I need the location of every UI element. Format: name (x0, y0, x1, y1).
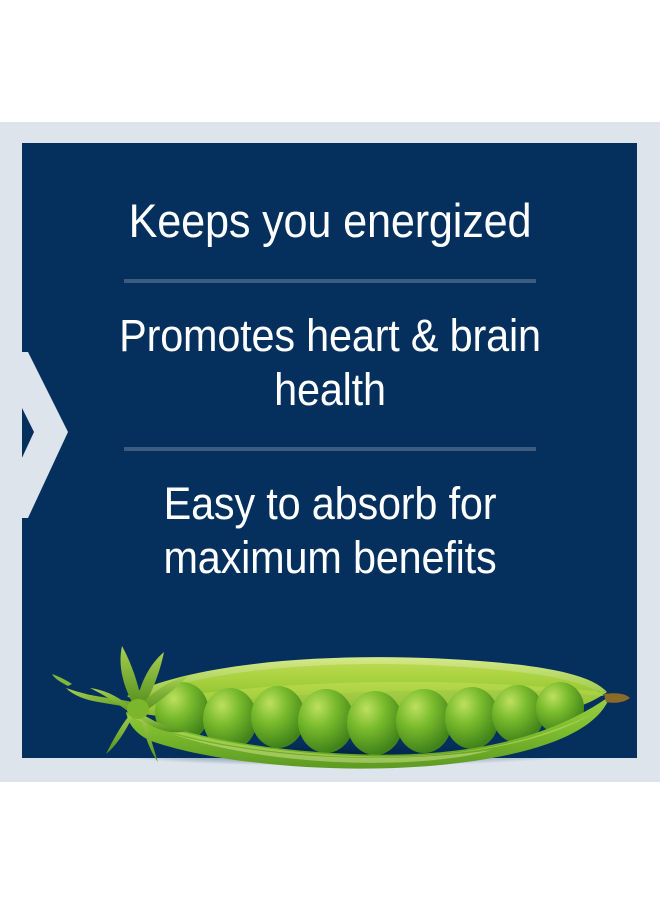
chevron-right-icon (0, 352, 68, 518)
pea-pod-illustration (22, 620, 637, 780)
